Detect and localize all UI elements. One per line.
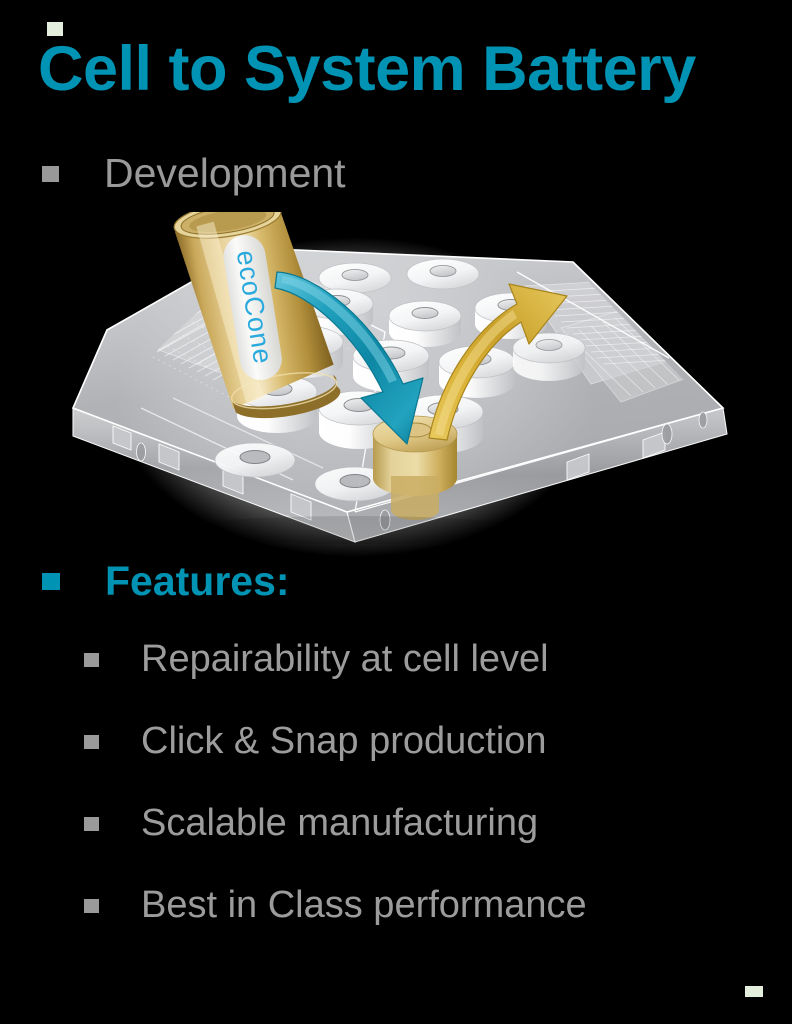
feature-list-item: Scalable manufacturing [84, 802, 538, 845]
square-bullet-icon [84, 817, 99, 831]
feature-list-item: Best in Class performance [84, 884, 587, 927]
battery-tray-illustration: ecoCone [55, 212, 745, 557]
feature-label: Repairability at cell level [141, 638, 549, 681]
square-bullet-icon [42, 166, 59, 182]
bullet-development: Development [42, 150, 346, 197]
feature-label: Scalable manufacturing [141, 802, 538, 845]
bullet-development-label: Development [104, 150, 346, 197]
feature-label: Click & Snap production [141, 720, 547, 763]
feature-label: Best in Class performance [141, 884, 587, 927]
square-bullet-icon [42, 573, 60, 590]
bullet-features-heading: Features: [42, 558, 290, 605]
features-heading-label: Features: [105, 558, 290, 605]
square-bullet-icon [84, 735, 99, 749]
bottom-right-decoration-square [745, 986, 763, 997]
square-bullet-icon [84, 899, 99, 913]
page-title: Cell to System Battery [38, 36, 768, 102]
square-bullet-icon [84, 653, 99, 667]
feature-list-item: Repairability at cell level [84, 638, 549, 681]
slide-canvas: Cell to System Battery Development [0, 0, 792, 1024]
feature-list-item: Click & Snap production [84, 720, 547, 763]
